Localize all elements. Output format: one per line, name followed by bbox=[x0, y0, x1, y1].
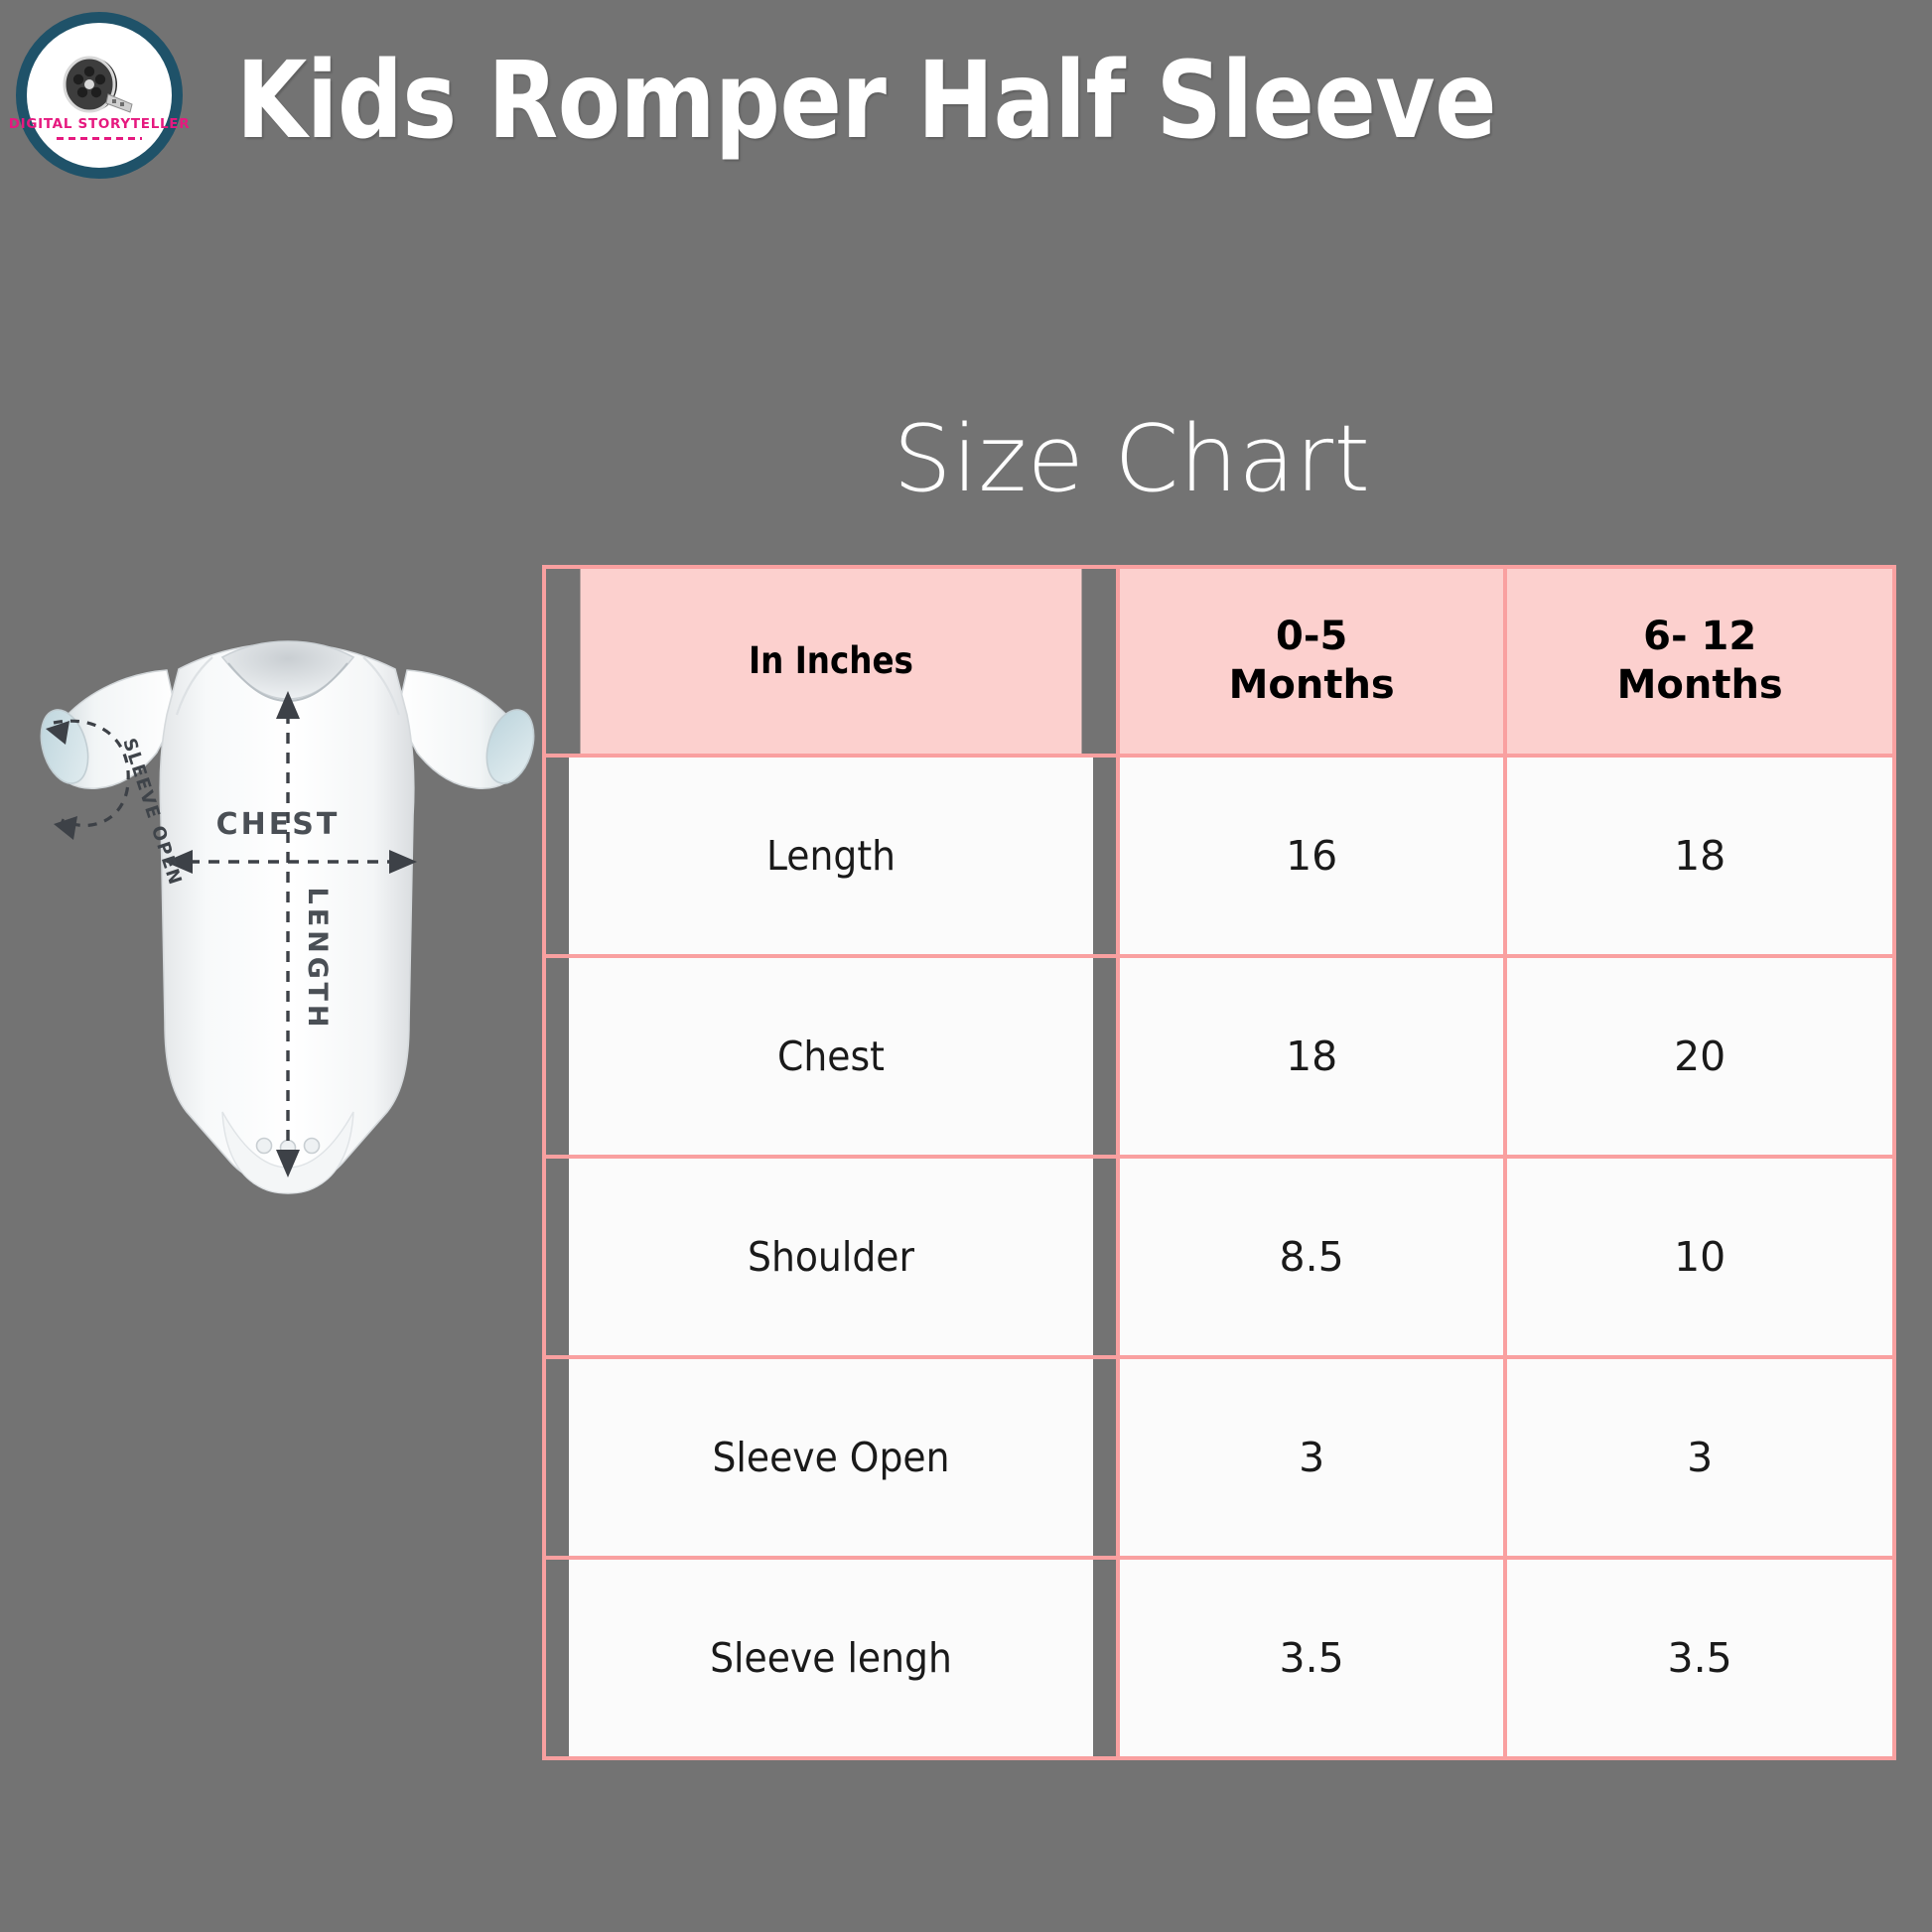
film-reel-icon bbox=[63, 55, 136, 116]
row-label-sleeve-length: Sleeve lengh bbox=[567, 1558, 1095, 1758]
cell-shoulder-6-12: 10 bbox=[1505, 1157, 1894, 1357]
table-row: Sleeve lengh 3.5 3.5 bbox=[544, 1558, 1894, 1758]
chest-measure-label: CHEST bbox=[216, 807, 341, 842]
brand-logo: DIGITAL STORYTELLER bbox=[16, 12, 183, 179]
row-label-length: Length bbox=[567, 756, 1095, 956]
romper-illustration: CHEST LENGTH SLEEVE OPEN bbox=[18, 596, 554, 1251]
cell-length-6-12: 18 bbox=[1505, 756, 1894, 956]
table-body: Length 16 18 Chest 18 20 Shoulder 8.5 10… bbox=[544, 756, 1894, 1758]
table-row: Length 16 18 bbox=[544, 756, 1894, 956]
row-label-chest: Chest bbox=[567, 956, 1095, 1157]
cell-shoulder-0-5: 8.5 bbox=[1118, 1157, 1505, 1357]
column-header-measurement: In Inches bbox=[579, 567, 1084, 756]
size-chart-table: In Inches 0-5 Months 6- 12 Months Length… bbox=[542, 565, 1896, 1760]
length-measure-label: LENGTH bbox=[302, 888, 333, 1032]
table-row: Chest 18 20 bbox=[544, 956, 1894, 1157]
table-row: Sleeve Open 3 3 bbox=[544, 1357, 1894, 1558]
cell-sleeve-open-6-12: 3 bbox=[1505, 1357, 1894, 1558]
row-label-shoulder: Shoulder bbox=[567, 1157, 1095, 1357]
table-row: Shoulder 8.5 10 bbox=[544, 1157, 1894, 1357]
logo-dashed-rule bbox=[57, 137, 142, 140]
row-label-sleeve-open: Sleeve Open bbox=[567, 1357, 1095, 1558]
cell-sleeve-open-0-5: 3 bbox=[1118, 1357, 1505, 1558]
table-header-row: In Inches 0-5 Months 6- 12 Months bbox=[544, 567, 1894, 756]
cell-chest-0-5: 18 bbox=[1118, 956, 1505, 1157]
table-header: In Inches 0-5 Months 6- 12 Months bbox=[544, 567, 1894, 756]
column-header-size-6-12-months: 6- 12 Months bbox=[1505, 567, 1894, 756]
logo-text: DIGITAL STORYTELLER bbox=[9, 118, 191, 132]
cell-sleeve-length-6-12: 3.5 bbox=[1505, 1558, 1894, 1758]
size-chart-heading: Size Chart bbox=[764, 413, 1499, 505]
page-title: Kids Romper Half Sleeve bbox=[236, 46, 1496, 158]
column-header-size-0-5-months: 0-5 Months bbox=[1118, 567, 1505, 756]
cell-chest-6-12: 20 bbox=[1505, 956, 1894, 1157]
cell-length-0-5: 16 bbox=[1118, 756, 1505, 956]
cell-sleeve-length-0-5: 3.5 bbox=[1118, 1558, 1505, 1758]
